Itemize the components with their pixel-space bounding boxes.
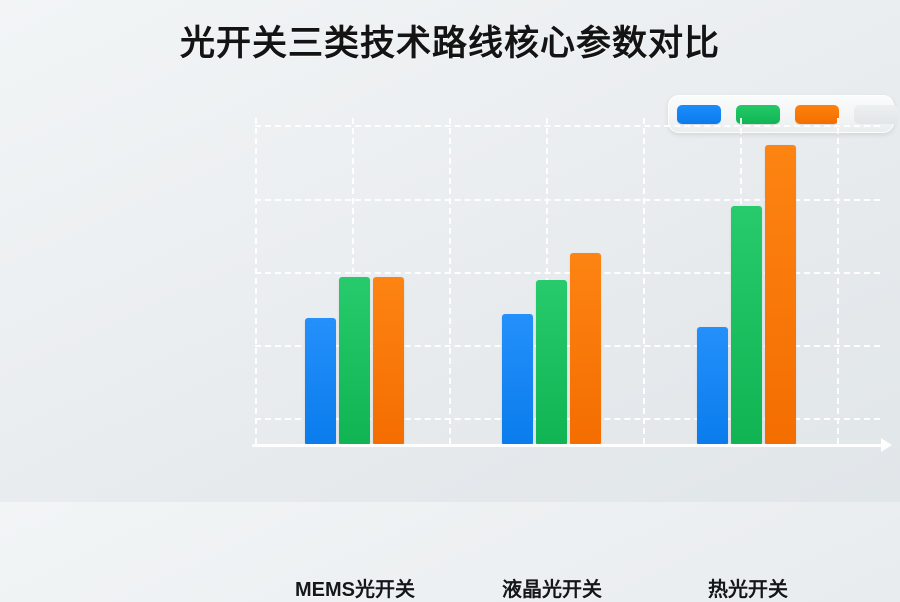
gridline-v-1 [255,118,257,444]
gridline-v-7 [837,118,839,444]
bar-lcd-series1[interactable] [502,314,533,444]
x-tick-label-mems: MEMS光开关 [295,573,415,602]
plot-area: MEMS光开关 液晶光开关 热光开关 [255,118,880,444]
x-tick-label-lcd: 液晶光开关 [502,573,602,602]
bar-thermal-series2[interactable] [731,206,762,444]
bar-lcd-series3[interactable] [570,253,601,444]
gridline-v-3 [449,118,451,444]
gridline-h-1 [255,125,880,127]
bar-thermal-series3[interactable] [765,145,796,444]
bar-thermal-series1[interactable] [697,327,728,444]
bar-mems-series1[interactable] [305,318,336,444]
x-axis-line [252,444,883,447]
chart-title: 光开关三类技术路线核心参数对比 [0,20,900,68]
x-tick-label-thermal: 热光开关 [708,573,788,602]
gridline-v-5 [643,118,645,444]
bar-mems-series3[interactable] [373,277,404,444]
bar-mems-series2[interactable] [339,277,370,444]
bar-lcd-series2[interactable] [536,280,567,444]
x-axis-arrow-icon [881,438,892,452]
